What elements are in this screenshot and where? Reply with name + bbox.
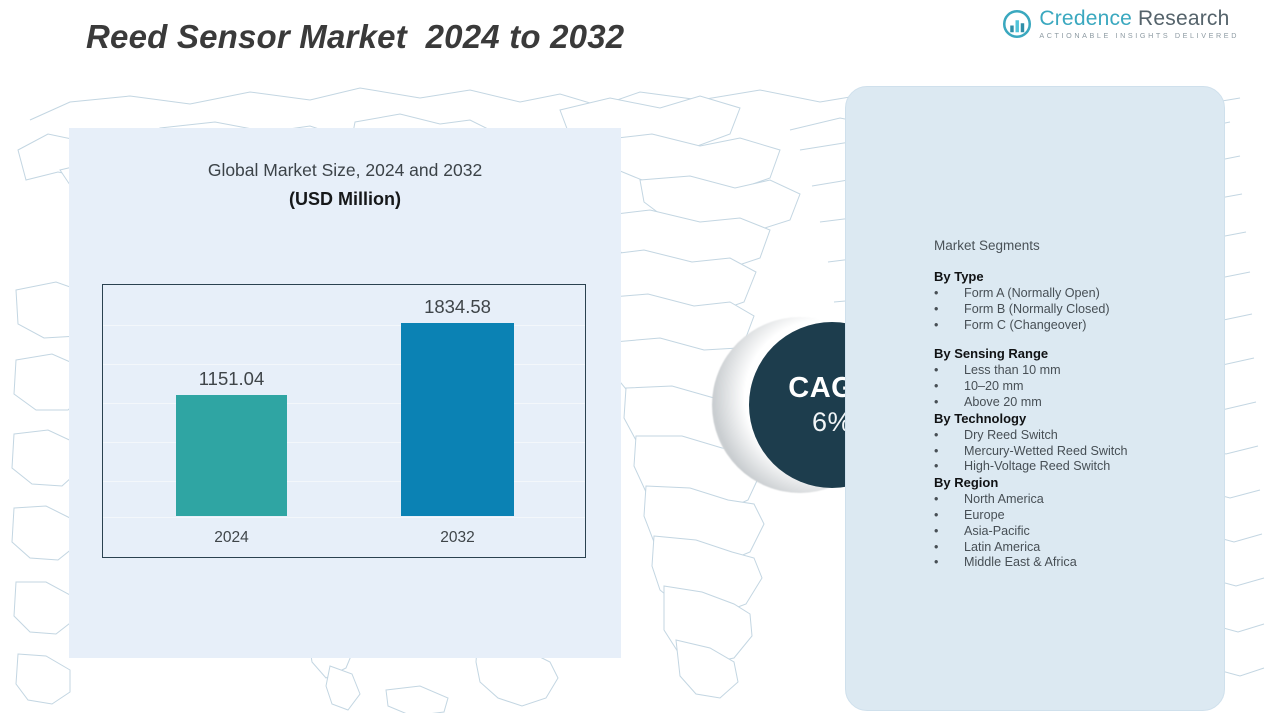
- bar-2032: [401, 323, 514, 516]
- segment-item: • North America: [934, 492, 1224, 508]
- bullet-icon: •: [934, 555, 964, 571]
- chart-heading-line-2: (USD Million): [69, 189, 621, 210]
- segment-item-label: Mercury-Wetted Reed Switch: [964, 444, 1128, 460]
- segments-title: Market Segments: [934, 238, 1224, 253]
- segment-group-by-type: By Type • Form A (Normally Open) • Form …: [934, 269, 1224, 333]
- segment-item-label: Above 20 mm: [964, 395, 1042, 411]
- segment-item-label: Form B (Normally Closed): [964, 302, 1110, 318]
- segment-item-label: North America: [964, 492, 1044, 508]
- page-title: Reed Sensor Market 2024 to 2032: [86, 18, 624, 56]
- segment-heading: By Type: [934, 269, 1224, 284]
- segment-item: • Above 20 mm: [934, 395, 1224, 411]
- segment-item: • High-Voltage Reed Switch: [934, 459, 1224, 475]
- segment-item-label: Dry Reed Switch: [964, 428, 1058, 444]
- bullet-icon: •: [934, 492, 964, 508]
- bullet-icon: •: [934, 459, 964, 475]
- segment-item-label: Less than 10 mm: [964, 363, 1061, 379]
- segment-group-by-technology: By Technology • Dry Reed Switch • Mercur…: [934, 411, 1224, 475]
- segment-item-label: Europe: [964, 508, 1005, 524]
- segment-item: • Form B (Normally Closed): [934, 302, 1224, 318]
- segment-item: • 10–20 mm: [934, 379, 1224, 395]
- segment-item: • Middle East & Africa: [934, 555, 1224, 571]
- bullet-icon: •: [934, 428, 964, 444]
- category-label-2024: 2024: [176, 529, 287, 547]
- market-segments: Market Segments By Type • Form A (Normal…: [934, 238, 1224, 571]
- brand-text: Credence Research Actionable Insights De…: [1039, 8, 1239, 39]
- category-label-2032: 2032: [401, 529, 514, 547]
- gridline: [103, 517, 585, 518]
- brand-name-primary: Credence: [1039, 8, 1132, 29]
- segment-item-label: High-Voltage Reed Switch: [964, 459, 1110, 475]
- bar-chart: 1151.04 1834.58 2024 2032: [102, 284, 586, 558]
- brand-tagline: Actionable Insights Delivered: [1039, 32, 1239, 39]
- segment-group-by-sensing-range: By Sensing Range • Less than 10 mm • 10–…: [934, 346, 1224, 410]
- infographic-canvas: Reed Sensor Market 2024 to 2032 Credence…: [0, 0, 1267, 713]
- segment-item-label: Form C (Changeover): [964, 318, 1086, 334]
- bullet-icon: •: [934, 524, 964, 540]
- segment-item: • Latin America: [934, 540, 1224, 556]
- segment-item: • Asia-Pacific: [934, 524, 1224, 540]
- bullet-icon: •: [934, 508, 964, 524]
- bullet-icon: •: [934, 540, 964, 556]
- bar-value-2024: 1151.04: [176, 368, 287, 390]
- bullet-icon: •: [934, 286, 964, 302]
- segment-item: • Mercury-Wetted Reed Switch: [934, 444, 1224, 460]
- bullet-icon: •: [934, 395, 964, 411]
- segment-item-label: Latin America: [964, 540, 1040, 556]
- bar-value-2032: 1834.58: [401, 296, 514, 318]
- bullet-icon: •: [934, 363, 964, 379]
- segment-heading: By Region: [934, 475, 1224, 490]
- bullet-icon: •: [934, 444, 964, 460]
- segment-item-label: 10–20 mm: [964, 379, 1024, 395]
- segment-heading: By Sensing Range: [934, 346, 1224, 361]
- brand-name-secondary: Research: [1138, 8, 1229, 29]
- brand-logo: Credence Research Actionable Insights De…: [1002, 8, 1239, 39]
- bar-2024: [176, 395, 287, 516]
- segment-heading: By Technology: [934, 411, 1224, 426]
- segment-group-by-region: By Region • North America • Europe • Asi…: [934, 475, 1224, 571]
- chart-heading-line-1: Global Market Size, 2024 and 2032: [69, 160, 621, 181]
- segment-item: • Dry Reed Switch: [934, 428, 1224, 444]
- segment-item: • Less than 10 mm: [934, 363, 1224, 379]
- segment-item-label: Middle East & Africa: [964, 555, 1077, 571]
- bar-chart-circle-icon: [1002, 9, 1032, 39]
- segment-item: • Form C (Changeover): [934, 318, 1224, 334]
- segment-item: • Europe: [934, 508, 1224, 524]
- bullet-icon: •: [934, 302, 964, 318]
- bullet-icon: •: [934, 318, 964, 334]
- segment-item: • Form A (Normally Open): [934, 286, 1224, 302]
- bullet-icon: •: [934, 379, 964, 395]
- segment-item-label: Form A (Normally Open): [964, 286, 1100, 302]
- segment-item-label: Asia-Pacific: [964, 524, 1030, 540]
